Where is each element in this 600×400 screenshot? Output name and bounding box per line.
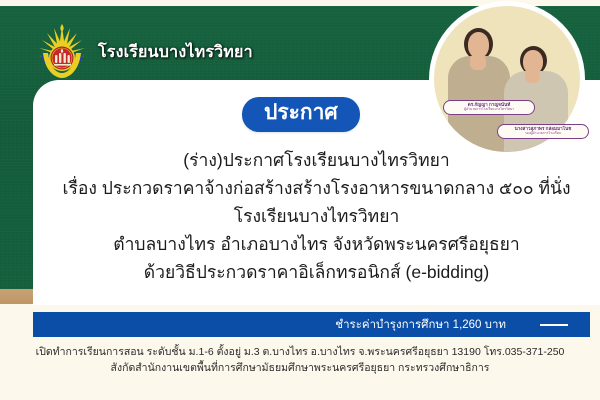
announcement-badge: ประกาศ	[242, 97, 360, 132]
announcement-line: โรงเรียนบางไทรวิทยา	[33, 202, 600, 230]
footer-line-1: เปิดทำการเรียนการสอน ระดับชั้น ม.1-6 ตั้…	[0, 344, 600, 360]
poster-canvas: โรงเรียนบางไทรวิทยา ดร.กัญญา กาญจนันท์ ผ…	[0, 0, 600, 400]
announcement-line: เรื่อง ประกวดราคาจ้างก่อสร้างสร้างโรงอาห…	[33, 174, 600, 202]
header: โรงเรียนบางไทรวิทยา	[34, 22, 253, 84]
fee-text: ชำระค่าบำรุงการศึกษา 1,260 บาท	[335, 316, 506, 334]
footer-line-2: สังกัดสำนักงานเขตพื้นที่การศึกษามัธยมศึก…	[0, 360, 600, 376]
announcement-body: (ร่าง)ประกาศโรงเรียนบางไทรวิทยา เรื่อง ป…	[33, 146, 600, 286]
announcement-line: ด้วยวิธีประกวดราคาอิเล็กทรอนิกส์ (e-bidd…	[33, 258, 600, 286]
announcement-line: ตำบลบางไทร อำเภอบางไทร จังหวัดพระนครศรีอ…	[33, 230, 600, 258]
administrators-portrait: ดร.กัญญา กาญจนันท์ ผู้อำนวยการโรงเรียนบา…	[434, 6, 580, 152]
fee-bar-rule	[540, 324, 568, 326]
ministry-of-education-emblem-icon	[34, 22, 90, 84]
nametag-director: ดร.กัญญา กาญจนันท์ ผู้อำนวยการโรงเรียนบา…	[443, 100, 535, 115]
school-name: โรงเรียนบางไทรวิทยา	[98, 40, 253, 67]
fee-bar: ชำระค่าบำรุงการศึกษา 1,260 บาท	[33, 312, 590, 337]
nametag-deputy-director: นางสาวสุภาพร กล่อมมาโนช รองผู้อำนวยการโร…	[497, 124, 589, 139]
footer: เปิดทำการเรียนการสอน ระดับชั้น ม.1-6 ตั้…	[0, 344, 600, 376]
